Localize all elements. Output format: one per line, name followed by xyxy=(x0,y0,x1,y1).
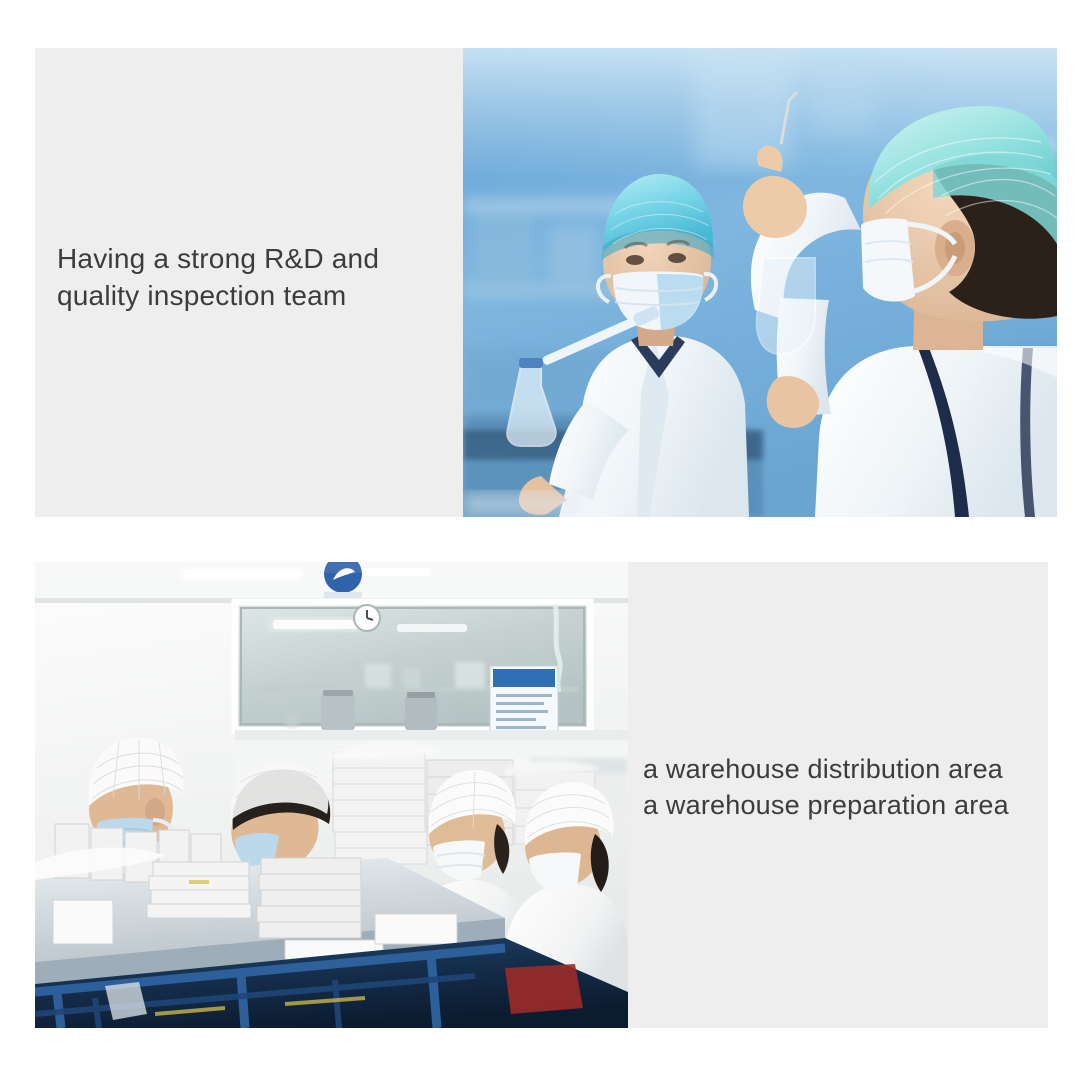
lab-technicians-photo xyxy=(463,48,1057,517)
warehouse-packing-photo xyxy=(35,562,628,1028)
caption-warehouse: a warehouse distribution area a warehous… xyxy=(643,751,1043,823)
section-rd-quality: Having a strong R&D and quality inspecti… xyxy=(35,48,1057,517)
section-warehouse: a warehouse distribution area a warehous… xyxy=(35,562,1048,1028)
caption-rd-quality: Having a strong R&D and quality inspecti… xyxy=(57,240,457,314)
slide-canvas: Having a strong R&D and quality inspecti… xyxy=(0,0,1080,1080)
